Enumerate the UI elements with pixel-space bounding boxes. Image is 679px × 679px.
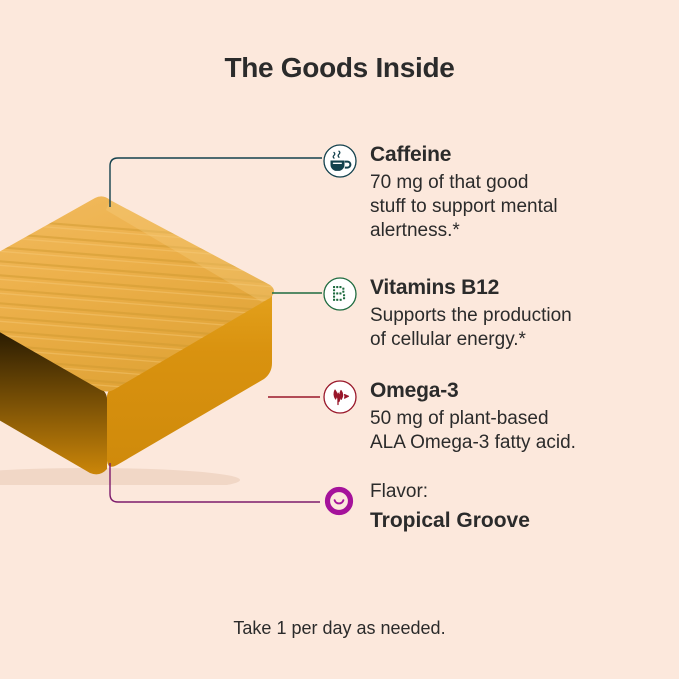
vitamin-b-dots-icon xyxy=(322,276,358,312)
fact-text-caffeine: Caffeine 70 mg of that good stuff to sup… xyxy=(370,143,662,244)
fact-description-vitamins: Supports the production of cellular ener… xyxy=(370,304,672,353)
fact-text-omega: Omega-3 50 mg of plant-based ALA Omega-3… xyxy=(370,379,667,455)
fact-title-omega: Omega-3 xyxy=(370,379,667,404)
fact-text-flavor: Flavor: Tropical Groove xyxy=(370,481,662,533)
footer-note: Take 1 per day as needed. xyxy=(0,618,679,639)
fact-description-omega: 50 mg of plant-based ALA Omega-3 fatty a… xyxy=(370,407,667,456)
gummy-shadow xyxy=(0,468,240,485)
product-gummy-image xyxy=(0,185,290,485)
fact-row-caffeine: Caffeine 70 mg of that good stuff to sup… xyxy=(322,143,662,244)
fact-row-omega: Omega-3 50 mg of plant-based ALA Omega-3… xyxy=(322,379,667,455)
fact-title-caffeine: Caffeine xyxy=(370,143,662,168)
fact-row-vitamins: Vitamins B12 Supports the production of … xyxy=(322,276,672,352)
fact-title-vitamins: Vitamins B12 xyxy=(370,276,672,301)
fact-row-flavor: Flavor: Tropical Groove xyxy=(322,481,662,533)
page-title: The Goods Inside xyxy=(0,52,679,84)
goods-inside-infographic: The Goods Inside xyxy=(0,0,679,679)
smile-circle-icon xyxy=(322,483,358,519)
flax-plant-icon xyxy=(322,379,358,415)
coffee-cup-icon xyxy=(322,143,358,179)
gummy-illustration xyxy=(0,185,290,485)
fact-value-flavor: Tropical Groove xyxy=(370,508,662,533)
fact-label-flavor: Flavor: xyxy=(370,481,662,504)
fact-text-vitamins: Vitamins B12 Supports the production of … xyxy=(370,276,672,352)
fact-description-caffeine: 70 mg of that good stuff to support ment… xyxy=(370,171,662,244)
